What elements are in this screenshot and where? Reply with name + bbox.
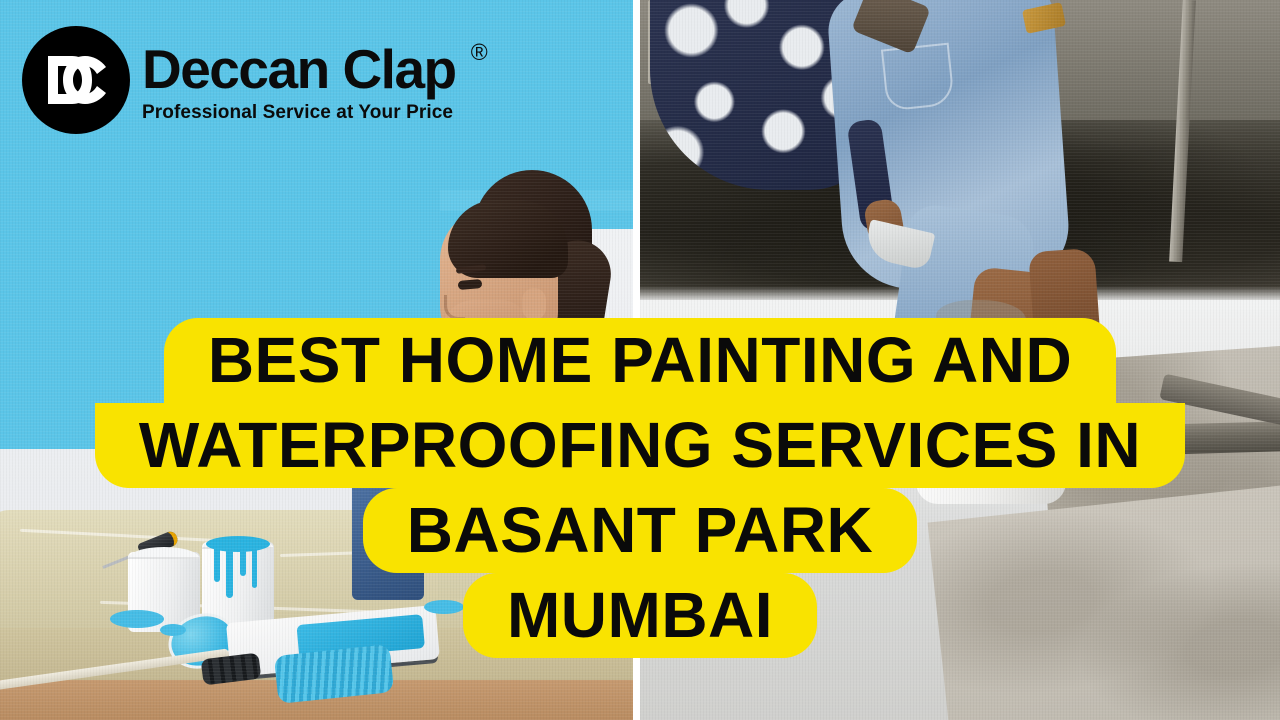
headline-line-3: BASANT PARK xyxy=(385,488,896,573)
headline-banner: BEST HOME PAINTING AND WATERPROOFING SER… xyxy=(0,318,1280,658)
headline-line-1: BEST HOME PAINTING AND xyxy=(186,318,1094,403)
headline-line-4: MUMBAI xyxy=(485,573,795,658)
dc-monogram-icon xyxy=(22,26,130,134)
brand-tagline: Professional Service at Your Price xyxy=(142,103,456,122)
thumbnail-canvas: Deccan Clap ® Professional Service at Yo… xyxy=(0,0,1280,720)
ear xyxy=(522,288,546,320)
brand-name: Deccan Clap xyxy=(142,42,456,97)
brand-wordmark: Deccan Clap ® Professional Service at Yo… xyxy=(142,38,456,122)
headline-line-2: WATERPROOFING SERVICES IN xyxy=(117,403,1163,488)
registered-trademark-icon: ® xyxy=(471,41,488,64)
brand-logo[interactable]: Deccan Clap ® Professional Service at Yo… xyxy=(22,26,456,134)
